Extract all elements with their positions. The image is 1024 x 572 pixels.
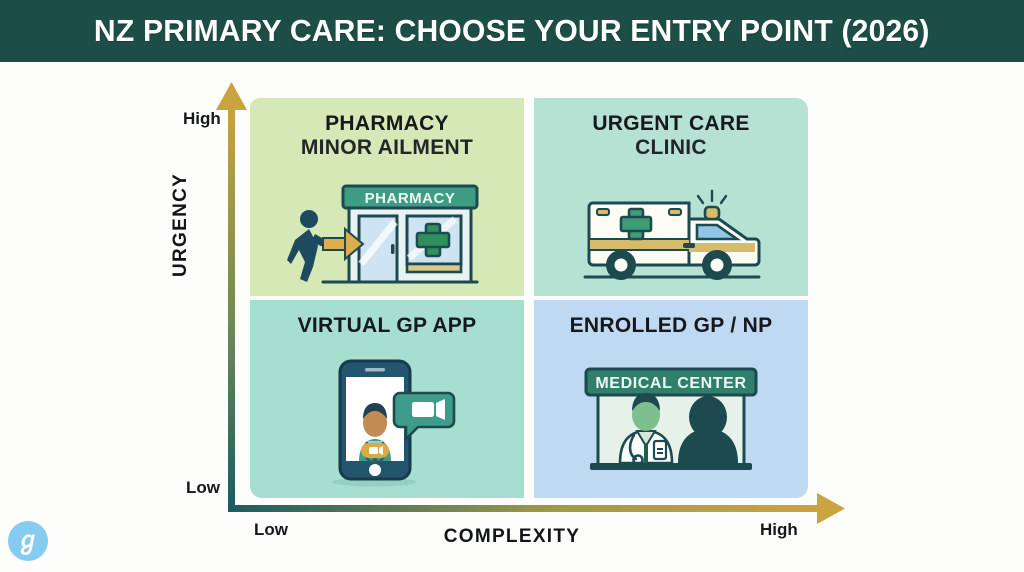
- ambulance-icon: [571, 167, 771, 296]
- quadrant-enrolled-gp-np[interactable]: ENROLLED GP / NP MEDICAL CENTER: [534, 300, 808, 498]
- quadrant-urgent-care-title: URGENT CARE: [592, 112, 749, 136]
- quadrant-urgent-care-subtitle: CLINIC: [635, 136, 707, 160]
- medical-center-sign-text: MEDICAL CENTER: [595, 375, 746, 392]
- x-axis-low-tick: Low: [254, 520, 288, 540]
- quadrant-enrolled-gp-np-title: ENROLLED GP / NP: [570, 314, 773, 338]
- x-axis-high-tick: High: [760, 520, 798, 540]
- svg-text:PHARMACY: PHARMACY: [365, 190, 456, 207]
- header-bar: NZ PRIMARY CARE: CHOOSE YOUR ENTRY POINT…: [0, 0, 1024, 62]
- pharmacy-storefront-icon: PHARMACY: [287, 167, 487, 296]
- quadrant-virtual-gp-app[interactable]: VIRTUAL GP APP: [250, 300, 524, 498]
- quadrant-pharmacy[interactable]: PHARMACY MINOR AILMENT PHARMACY: [250, 98, 524, 296]
- quadrant-matrix: PHARMACY MINOR AILMENT PHARMACY: [250, 98, 816, 510]
- quadrant-pharmacy-subtitle: MINOR AILMENT: [301, 136, 473, 160]
- quadrant-pharmacy-title: PHARMACY: [325, 112, 449, 136]
- y-axis-low-tick: Low: [186, 478, 220, 498]
- quadrant-virtual-gp-app-title: VIRTUAL GP APP: [298, 314, 477, 338]
- y-axis-high-tick: High: [183, 109, 221, 129]
- y-axis-title: URGENCY: [170, 173, 192, 277]
- medical-center-icon: MEDICAL CENTER: [576, 344, 766, 498]
- page-title: NZ PRIMARY CARE: CHOOSE YOUR ENTRY POINT…: [94, 13, 930, 49]
- x-axis-title: COMPLEXITY: [0, 526, 1024, 548]
- watermark-glyph: ℊ: [16, 529, 40, 553]
- diagram-canvas: URGENCY COMPLEXITY High Low Low High PHA…: [0, 62, 1024, 572]
- smartphone-video-consult-icon: [312, 344, 462, 498]
- brand-watermark: ℊ: [8, 521, 48, 561]
- quadrant-urgent-care[interactable]: URGENT CARE CLINIC: [534, 98, 808, 296]
